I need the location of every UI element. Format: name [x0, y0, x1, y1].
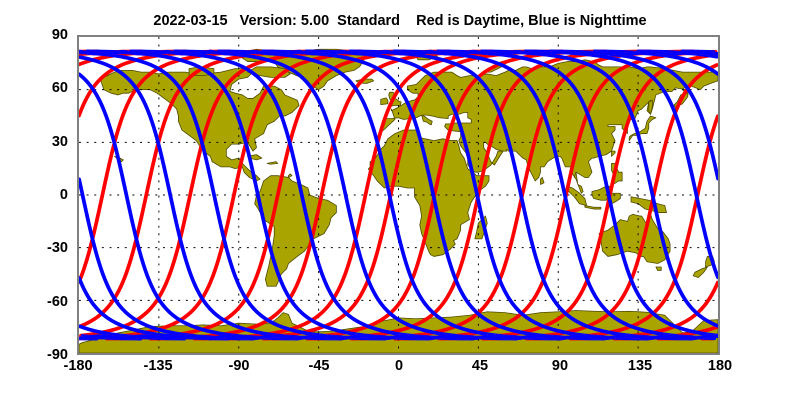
satellite-ground-track-figure: 2022-03-15 Version: 5.00 Standard Red is… [0, 0, 800, 400]
x-tick-label-n180: -180 [56, 358, 100, 374]
x-tick-label-n90: -90 [217, 358, 261, 374]
landmass-tasmania [656, 267, 661, 271]
y-tick-label-n30: -30 [30, 240, 68, 256]
y-tick-label-n60: -60 [30, 294, 68, 310]
landmass-sri-lanka [541, 177, 545, 184]
landmass-java [585, 206, 601, 210]
y-tick-label-30: 30 [38, 134, 68, 150]
landmass-sakhalin [649, 100, 653, 114]
x-tick-label-n45: -45 [297, 358, 341, 374]
landmass-hispaniola [267, 162, 278, 165]
landmass-newzealand-s [693, 267, 707, 278]
y-tick-label-90: 90 [38, 27, 68, 43]
y-tick-label-60: 60 [38, 80, 68, 96]
y-tick-label-0: 0 [38, 187, 68, 203]
x-tick-label-0: 0 [377, 358, 421, 374]
x-tick-label-n135: -135 [136, 358, 180, 374]
landmass-ireland [381, 98, 388, 105]
x-tick-label-180: 180 [698, 358, 742, 374]
world-map-with-ground-tracks [79, 37, 718, 353]
page-title: 2022-03-15 Version: 5.00 Standard Red is… [0, 13, 800, 29]
x-tick-label-90: 90 [538, 358, 582, 374]
daytime-track-10-seg-0 [81, 51, 361, 335]
landmass-cubalike-s [288, 174, 292, 178]
x-tick-label-45: 45 [458, 358, 502, 374]
map-plot-area [77, 35, 720, 355]
x-tick-label-135: 135 [618, 358, 662, 374]
landmass-sumatra [567, 186, 587, 205]
landmass-taiwan [612, 151, 616, 156]
